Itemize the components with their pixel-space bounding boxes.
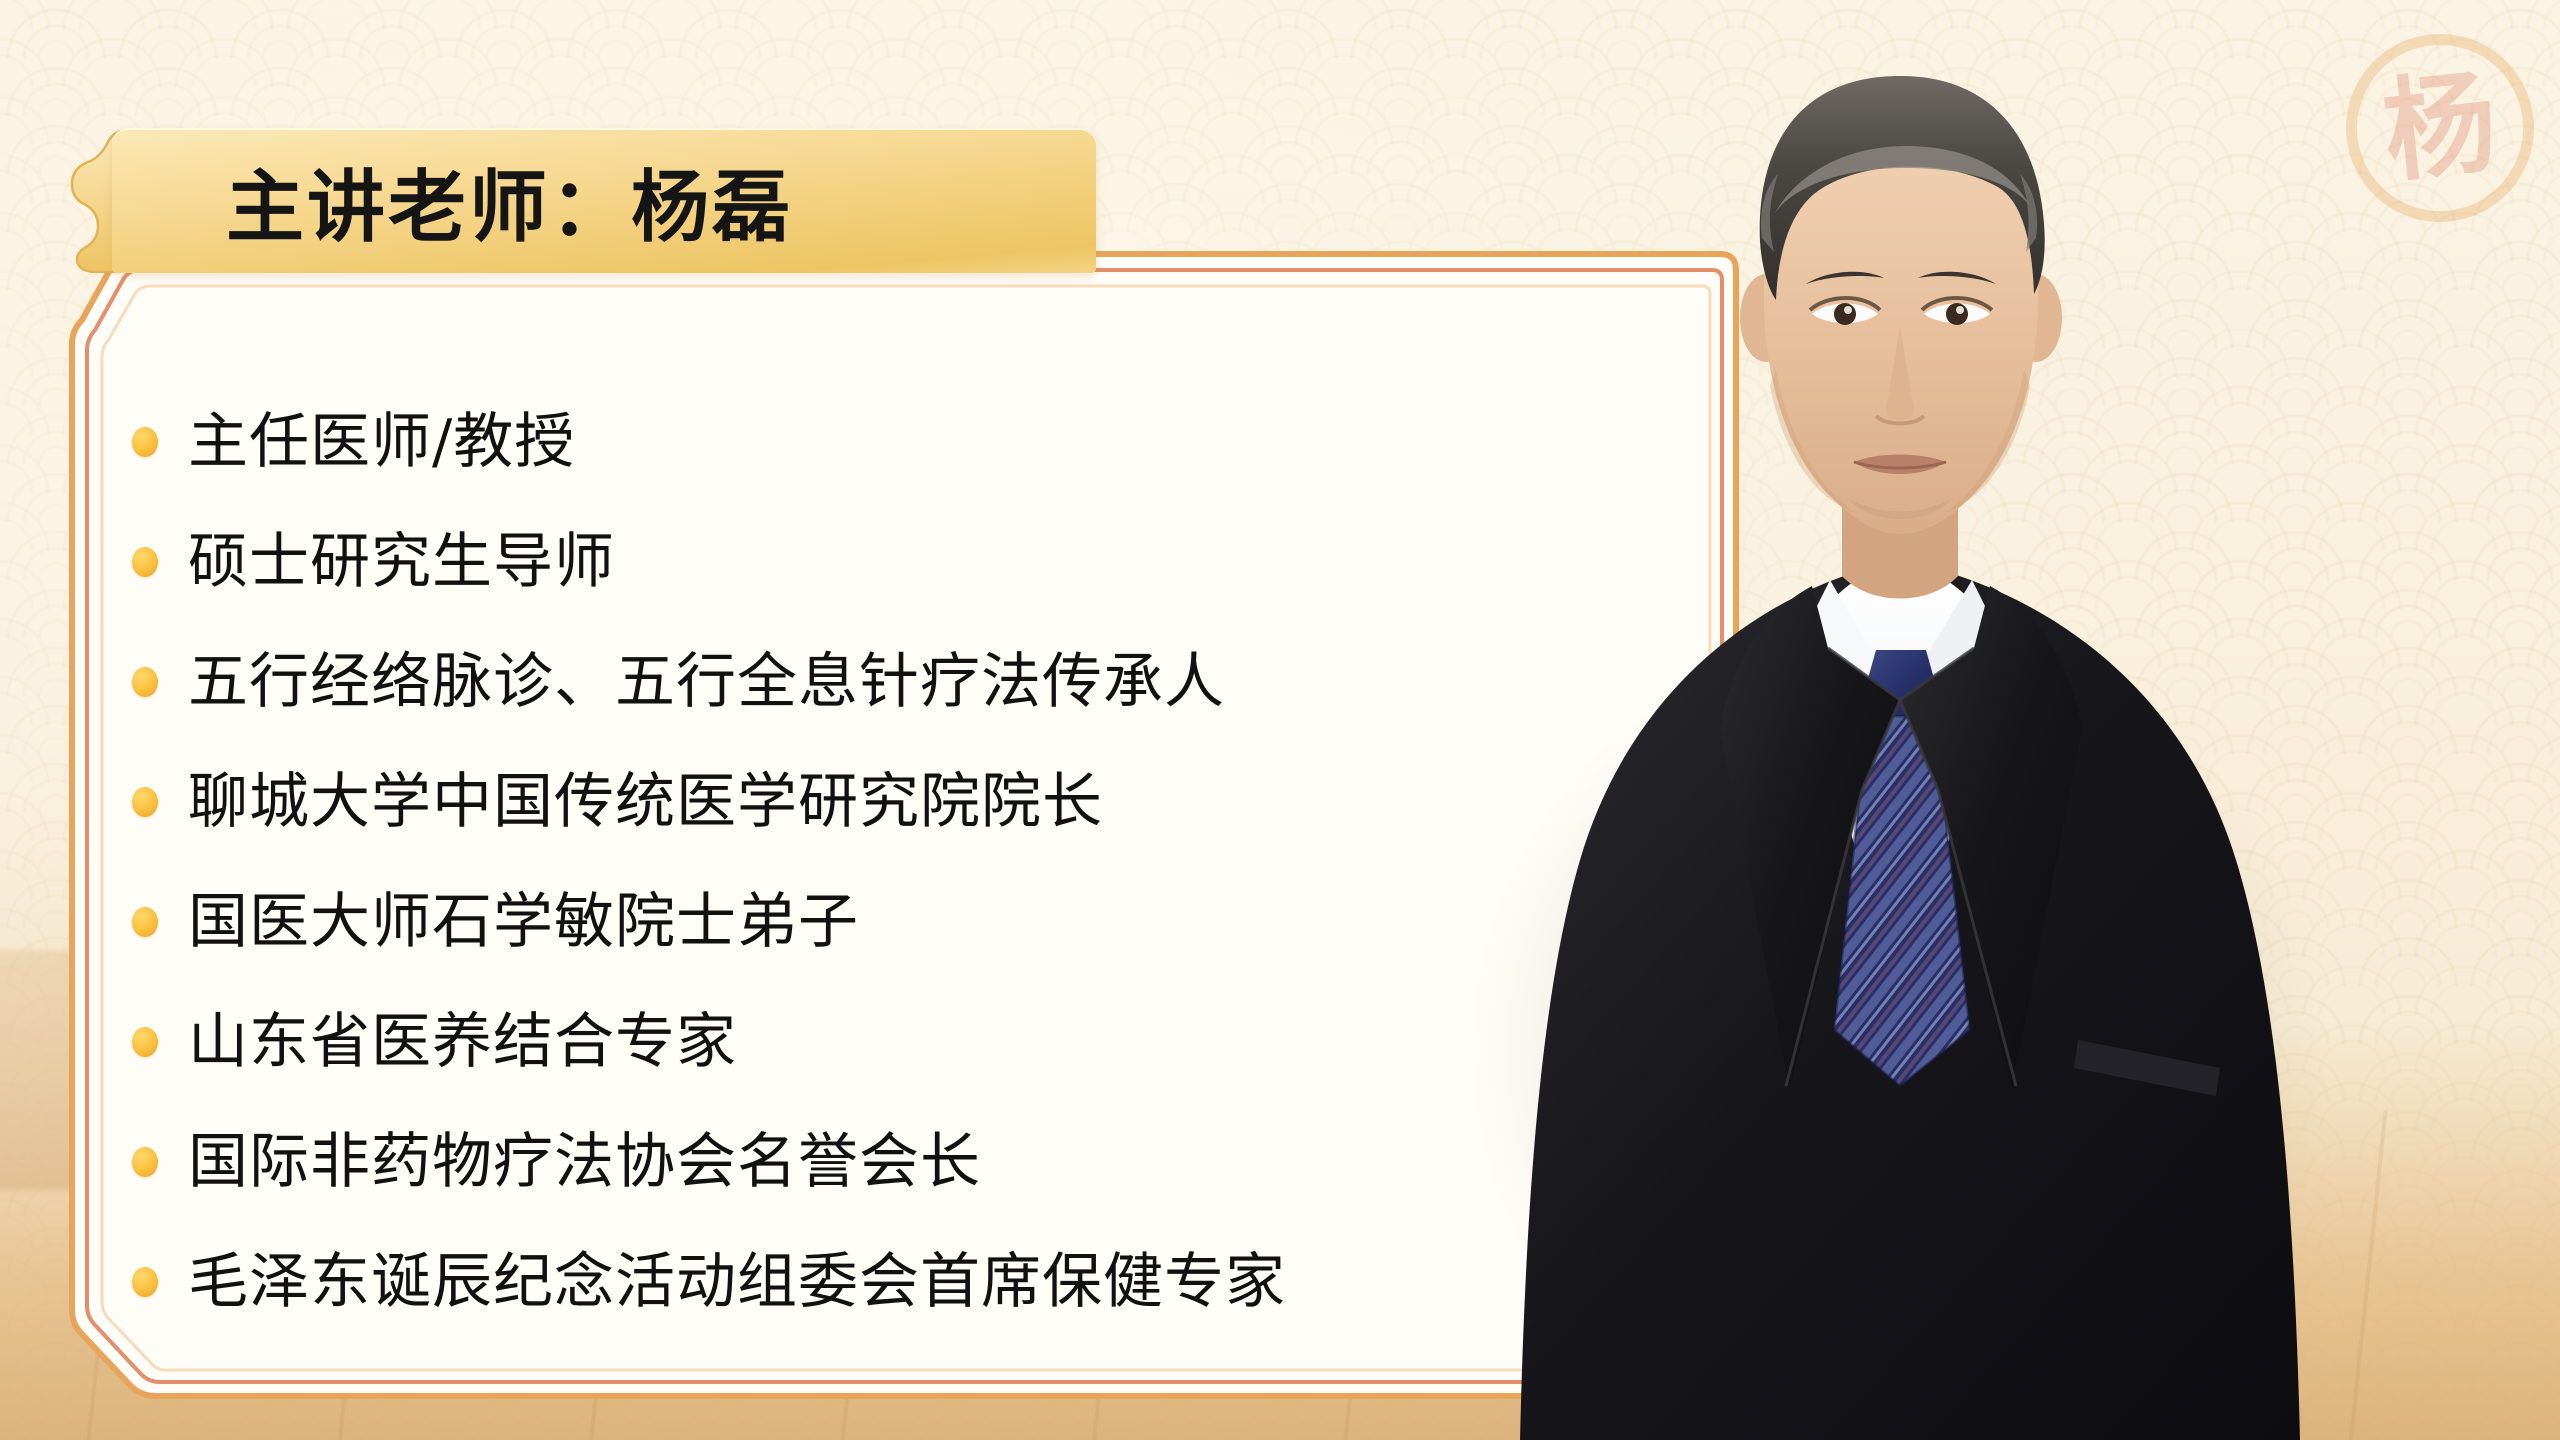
bullet-dot-icon <box>132 907 158 937</box>
credential-label: 硕士研究生导师 <box>188 531 615 594</box>
list-item: 主任医师/教授 <box>132 382 1710 502</box>
page-title: 主讲老师：杨磊 <box>226 128 793 273</box>
credential-label: 聊城大学中国传统医学研究院院长 <box>188 771 1103 834</box>
list-item: 硕士研究生导师 <box>132 502 1710 622</box>
credentials-body: 主任医师/教授 硕士研究生导师 五行经络脉诊、五行全息针疗法传承人 聊城大学中国… <box>132 382 1710 1364</box>
slide-canvas: 杨 主任医师/教授 硕士 <box>0 0 2560 1440</box>
bullet-dot-icon <box>132 1027 158 1057</box>
list-item: 国际非药物疗法协会名誉会长 <box>132 1102 1710 1222</box>
bullet-dot-icon <box>132 1267 158 1297</box>
title-banner: 主讲老师：杨磊 <box>66 128 1096 273</box>
bullet-dot-icon <box>132 787 158 817</box>
bullet-dot-icon <box>132 667 158 697</box>
credential-label: 国医大师石学敏院士弟子 <box>188 891 859 954</box>
credential-label: 主任医师/教授 <box>188 411 575 474</box>
list-item: 山东省医养结合专家 <box>132 982 1710 1102</box>
seal-character: 杨 <box>2378 66 2501 189</box>
bullet-dot-icon <box>132 427 158 457</box>
list-item: 毛泽东诞辰纪念活动组委会首席保健专家 <box>132 1222 1710 1342</box>
credential-label: 山东省医养结合专家 <box>188 1011 737 1074</box>
credential-label: 国际非药物疗法协会名誉会长 <box>188 1131 981 1194</box>
bullet-dot-icon <box>132 1147 158 1177</box>
bullet-dot-icon <box>132 547 158 577</box>
credential-label: 毛泽东诞辰纪念活动组委会首席保健专家 <box>188 1251 1286 1314</box>
credentials-card: 主任医师/教授 硕士研究生导师 五行经络脉诊、五行全息针疗法传承人 聊城大学中国… <box>60 240 1750 1410</box>
credentials-list: 主任医师/教授 硕士研究生导师 五行经络脉诊、五行全息针疗法传承人 聊城大学中国… <box>132 382 1710 1342</box>
list-item: 聊城大学中国传统医学研究院院长 <box>132 742 1710 862</box>
list-item: 五行经络脉诊、五行全息针疗法传承人 <box>132 622 1710 742</box>
list-item: 国医大师石学敏院士弟子 <box>132 862 1710 982</box>
credential-label: 五行经络脉诊、五行全息针疗法传承人 <box>188 651 1225 714</box>
